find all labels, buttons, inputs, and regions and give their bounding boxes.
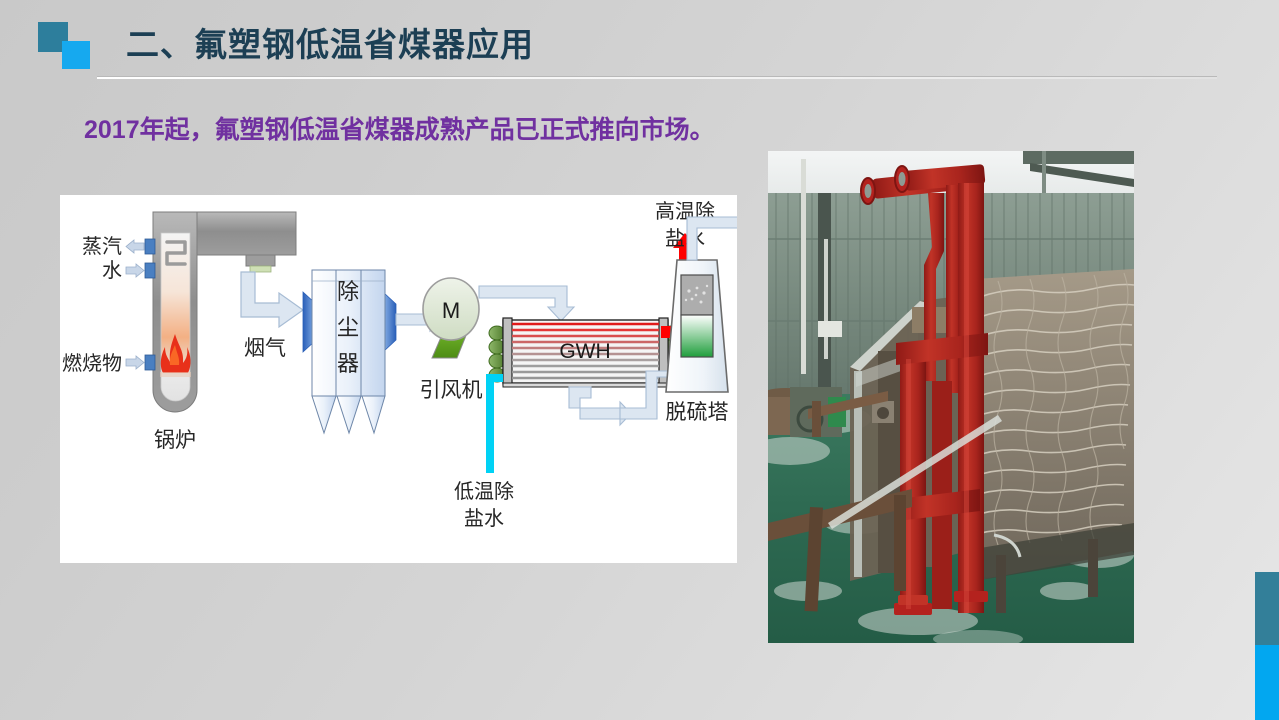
label-water: 水 <box>102 259 122 282</box>
installation-photo <box>768 151 1134 643</box>
induced-draft-fan: M <box>423 278 479 358</box>
label-hot-demin-water-2: 盐水 <box>665 227 705 250</box>
label-steam: 蒸汽 <box>82 235 122 258</box>
label-fan-motor: M <box>442 298 460 323</box>
title-divider <box>97 76 1217 79</box>
slide-subtitle: 2017年起，氟塑钢低温省煤器成熟产品已正式推向市场。 <box>84 110 715 146</box>
label-dust-collector-char1: 除 <box>337 279 359 304</box>
label-gwh: GWH <box>559 340 610 363</box>
slide-header: 二、氟塑钢低温省煤器应用 <box>0 0 1279 90</box>
label-desulfurization-tower: 脱硫塔 <box>666 401 729 424</box>
label-dust-collector-char2: 尘 <box>337 315 359 340</box>
label-cold-demin-water-2: 盐水 <box>464 507 504 530</box>
accent-bar-segment-top <box>1255 572 1279 645</box>
label-fan: 引风机 <box>420 379 483 402</box>
label-flue-gas: 烟气 <box>244 337 286 360</box>
label-cold-demin-water-1: 低温除 <box>454 480 514 503</box>
cold-demin-water-line <box>486 374 503 473</box>
page-title: 二、氟塑钢低温省煤器应用 <box>126 18 534 66</box>
accent-bar-segment-bottom <box>1255 645 1279 720</box>
label-boiler: 锅炉 <box>154 429 196 452</box>
process-flow-diagram: 蒸汽 水 燃烧物 锅炉 烟气 除 尘 器 M 引风机 <box>60 195 737 563</box>
boiler-port-arrows <box>126 240 144 369</box>
flue-gas-duct-3 <box>479 286 574 321</box>
label-fuel: 燃烧物 <box>62 352 122 375</box>
label-dust-collector-char3: 器 <box>337 351 359 376</box>
right-edge-accent-bar <box>1255 572 1279 720</box>
flue-gas-duct-1 <box>241 272 303 327</box>
dust-collector-unit: 除 尘 器 <box>303 270 396 433</box>
decoration-square-light <box>62 41 90 69</box>
